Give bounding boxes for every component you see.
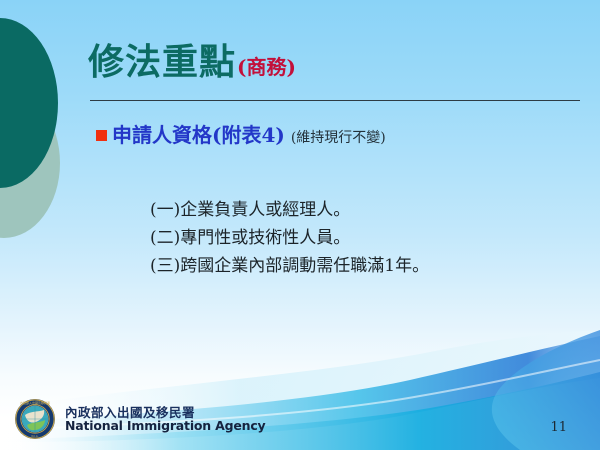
bullet-heading-text: 申請人資格(附表4) [112, 124, 285, 146]
title-divider [90, 100, 580, 101]
bullet-heading-note: (維持現行不變) [291, 131, 386, 146]
slide-title: 修法重點 (商務) [88, 44, 296, 80]
agency-emblem-icon: 內政部入出國及移民署 N.I.A. [14, 398, 56, 440]
list-item: (二)專門性或技術性人員。 [150, 224, 429, 252]
body-list: (一)企業負責人或經理人。 (二)專門性或技術性人員。 (三)跨國企業內部調動需… [150, 196, 429, 280]
slide-title-main: 修法重點 [88, 44, 236, 80]
bullet-heading: 申請人資格(附表4) (維持現行不變) [96, 124, 386, 146]
list-item: (一)企業負責人或經理人。 [150, 196, 429, 224]
svg-text:N.I.A.: N.I.A. [32, 434, 39, 438]
page-number: 11 [550, 420, 567, 435]
footer-branding: 內政部入出國及移民署 N.I.A. 內政部入出國及移民署 National Im… [14, 398, 266, 440]
slide-title-suffix: (商務) [237, 57, 296, 77]
slide-canvas: 修法重點 (商務) 申請人資格(附表4) (維持現行不變) (一)企業負責人或經… [0, 0, 600, 450]
square-bullet-icon [96, 130, 107, 141]
agency-name-block: 內政部入出國及移民署 National Immigration Agency [65, 406, 266, 432]
list-item: (三)跨國企業內部調動需任職滿1年。 [150, 252, 429, 280]
agency-name-en: National Immigration Agency [65, 419, 266, 432]
svg-text:內政部入出國及移民署: 內政部入出國及移民署 [20, 400, 50, 405]
